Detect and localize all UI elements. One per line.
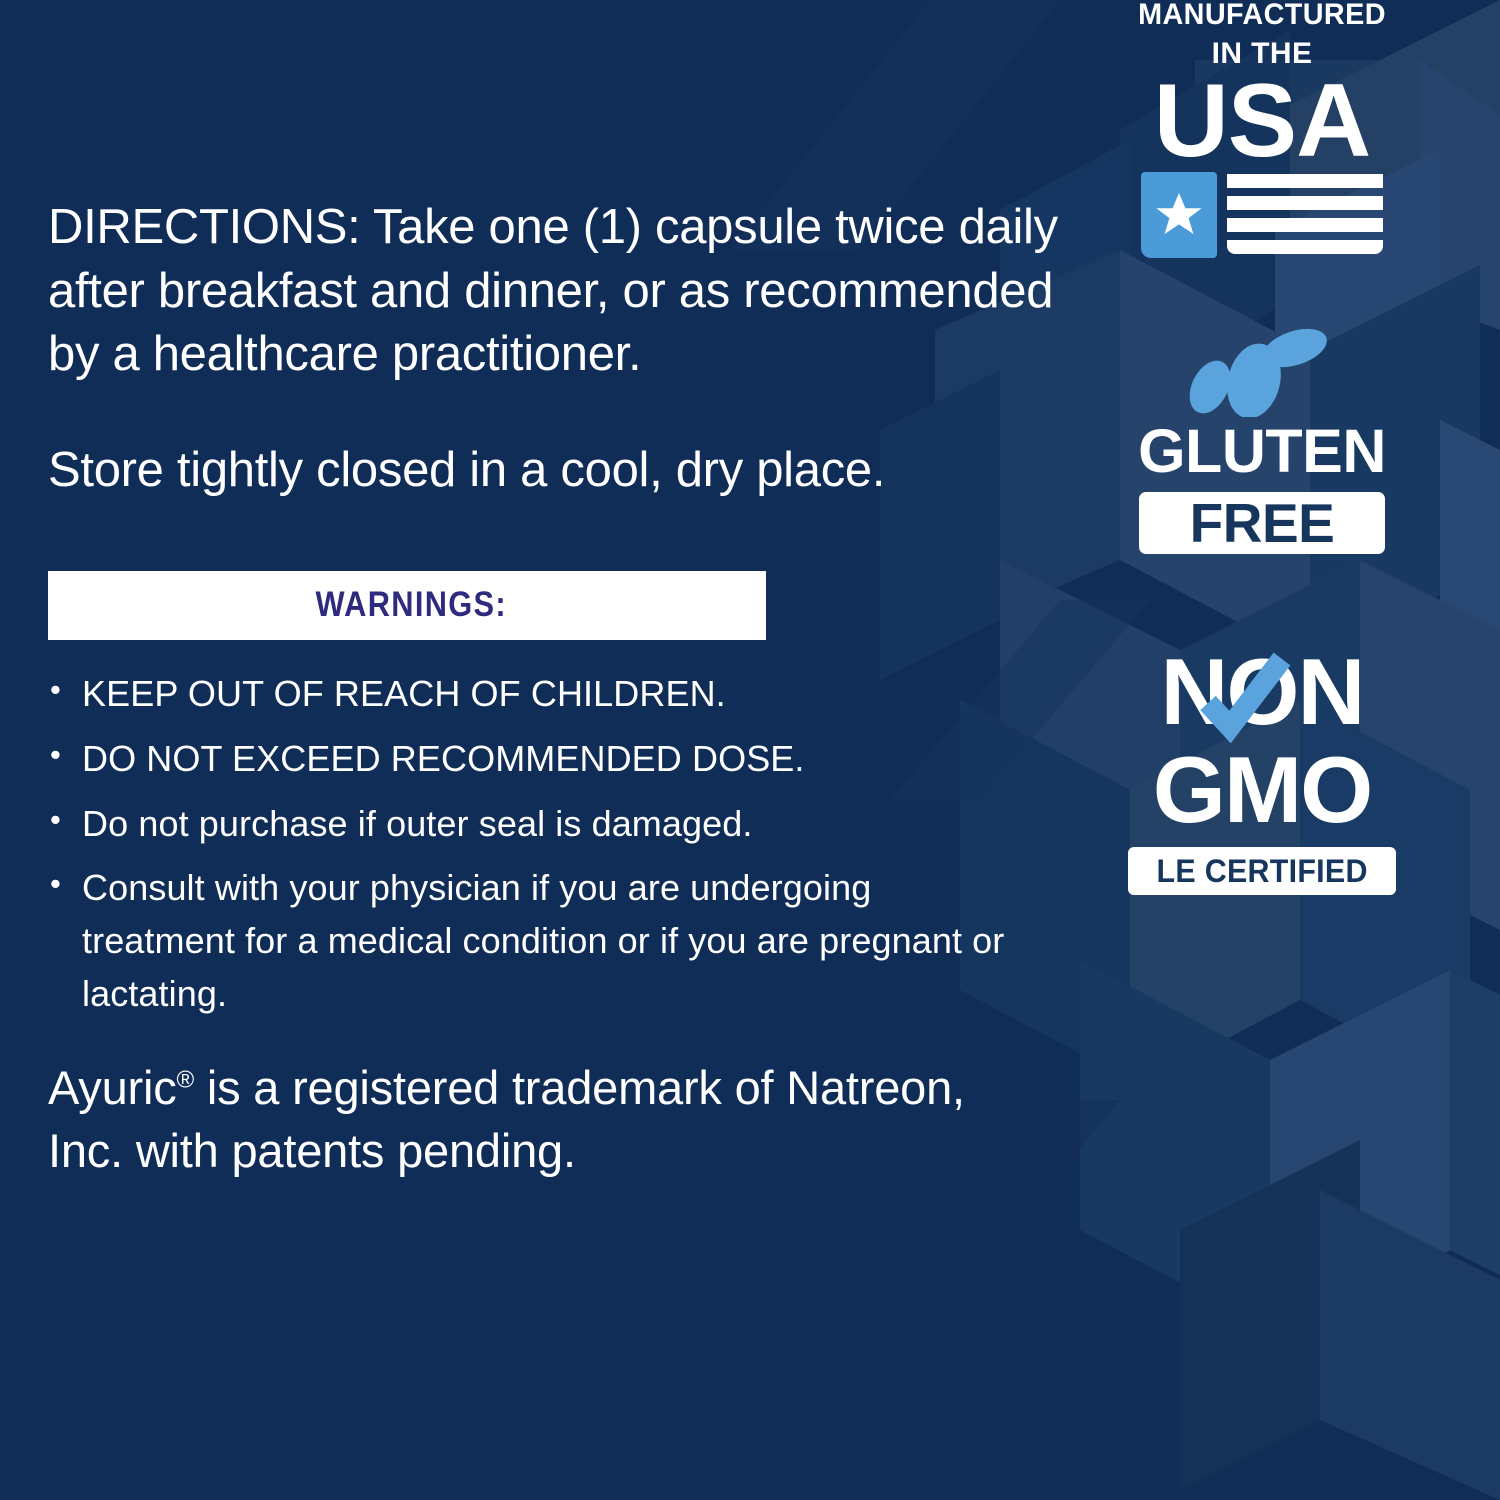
badge-gluten-free: GLUTEN FREE bbox=[1102, 325, 1422, 554]
trademark-brand: Ayuric bbox=[48, 1061, 177, 1114]
warning-item: Consult with your physician if you are u… bbox=[48, 862, 1028, 1021]
warnings-list: KEEP OUT OF REACH OF CHILDREN. DO NOT EX… bbox=[48, 668, 1028, 1021]
trademark-notice: Ayuric® is a registered trademark of Nat… bbox=[48, 1057, 998, 1182]
star-icon bbox=[1153, 189, 1205, 241]
flag-stripe bbox=[1227, 196, 1383, 210]
wheat-leaves-icon bbox=[1102, 325, 1422, 417]
badge-non-gmo: NON GMO LE CERTIFIED bbox=[1102, 645, 1422, 895]
warnings-header-bar: WARNINGS: bbox=[48, 571, 766, 640]
leaf-group-icon bbox=[1102, 325, 1422, 417]
label-text-column: DIRECTIONS: Take one (1) capsule twice d… bbox=[0, 0, 1090, 1500]
non-gmo-word-top: NON bbox=[1102, 645, 1422, 739]
flag-stripe bbox=[1227, 174, 1383, 188]
storage-instruction: Store tightly closed in a cool, dry plac… bbox=[48, 439, 1088, 503]
non-gmo-word-top-row: NON bbox=[1102, 645, 1422, 741]
flag-stripe bbox=[1227, 240, 1383, 254]
usa-badge-line-1: MANUFACTURED bbox=[1108, 0, 1415, 30]
directions-paragraph: DIRECTIONS: Take one (1) capsule twice d… bbox=[48, 196, 1088, 387]
non-gmo-word-bottom: GMO bbox=[1102, 743, 1422, 837]
product-label-panel: DIRECTIONS: Take one (1) capsule twice d… bbox=[0, 0, 1500, 1500]
flag-stripes bbox=[1227, 172, 1383, 254]
flag-canton bbox=[1141, 172, 1217, 258]
gluten-free-word-bottom: FREE bbox=[1190, 496, 1335, 551]
warning-item: Do not purchase if outer seal is damaged… bbox=[48, 798, 1028, 851]
registered-mark-icon: ® bbox=[177, 1067, 194, 1094]
certification-badge-column: MANUFACTURED IN THE USA bbox=[1090, 0, 1500, 1500]
badge-manufactured-in-usa: MANUFACTURED IN THE USA bbox=[1102, 0, 1422, 258]
non-gmo-certification-plate: LE CERTIFIED bbox=[1128, 847, 1396, 895]
warning-item: DO NOT EXCEED RECOMMENDED DOSE. bbox=[48, 733, 1028, 786]
non-gmo-certification-label: LE CERTIFIED bbox=[1156, 853, 1367, 890]
warnings-heading: WARNINGS: bbox=[307, 585, 507, 625]
usa-badge-headline: USA bbox=[1102, 77, 1422, 166]
flag-stripe bbox=[1227, 218, 1383, 232]
gluten-free-plate: FREE bbox=[1139, 492, 1385, 554]
us-flag-icon bbox=[1102, 172, 1422, 258]
gluten-free-word-top: GLUTEN bbox=[1102, 421, 1422, 482]
warning-item: KEEP OUT OF REACH OF CHILDREN. bbox=[48, 668, 1028, 721]
